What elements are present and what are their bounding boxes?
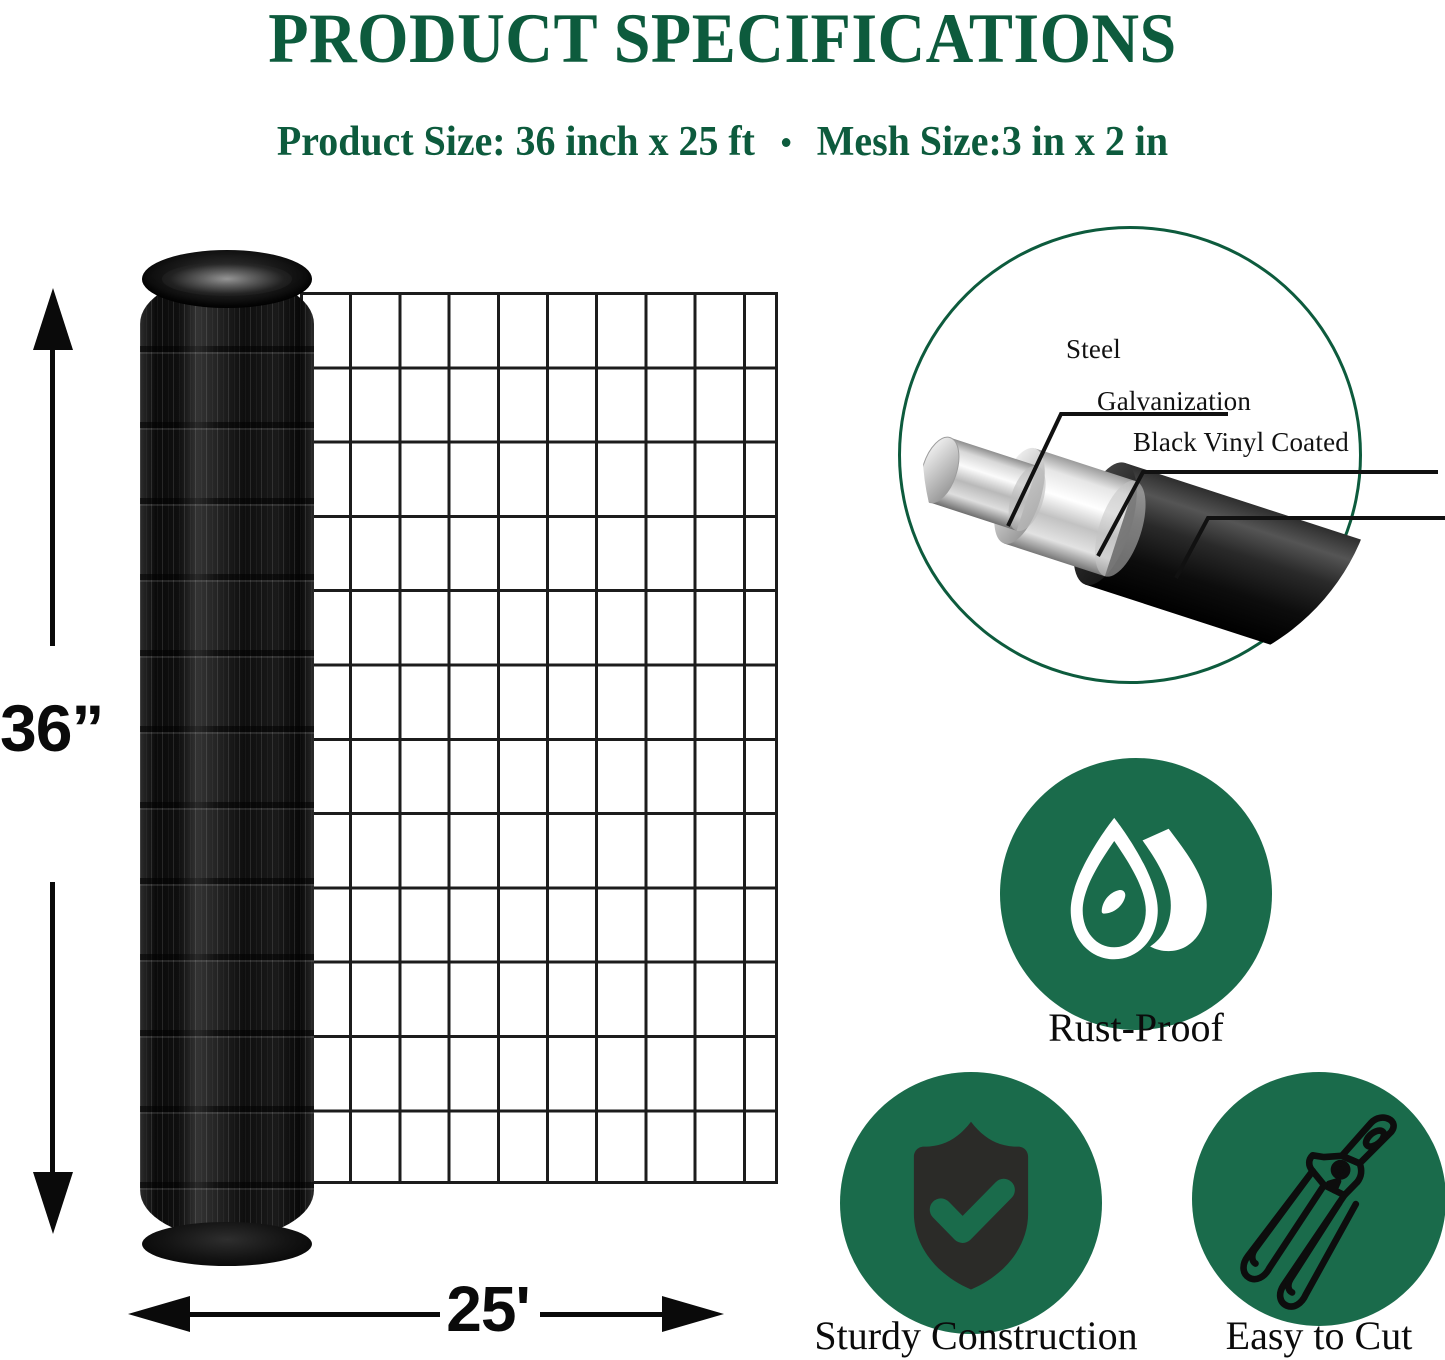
water-drop-icon [1000, 758, 1272, 1030]
wire-layer-label-steel: Steel [1066, 334, 1121, 365]
mesh-size-label: Mesh Size:3 in x 2 in [817, 118, 1168, 166]
mesh-right-edge [775, 292, 778, 1184]
roll-top-ellipse [142, 250, 312, 308]
arrow-shaft-right [540, 1312, 680, 1317]
feature-label-easy-to-cut: Easy to Cut [1188, 1312, 1445, 1359]
wire-layer-label-galvanization: Galvanization [1097, 386, 1251, 417]
wire-mesh-sheet [300, 292, 778, 1184]
width-dimension-label: 25' [428, 1272, 548, 1346]
roll-body [140, 276, 314, 1238]
feature-badge-easy-to-cut [1192, 1072, 1445, 1326]
arrow-shaft-bottom [50, 882, 55, 1174]
arrow-shaft-top [50, 346, 55, 646]
wire-layer-label-vinyl: Black Vinyl Coated [1133, 427, 1349, 458]
wire-cross-section-diagram [898, 226, 1445, 696]
arrow-head-right-icon [662, 1296, 724, 1332]
shield-check-icon [840, 1072, 1102, 1334]
page-title: PRODUCT SPECIFICATIONS [51, 2, 1395, 77]
feature-label-sturdy-construction: Sturdy Construction [786, 1312, 1166, 1359]
specs-subtitle-row: Product Size: 36 inch x 25 ft Mesh Size:… [36, 118, 1409, 166]
separator-dot-icon [782, 138, 791, 147]
roll-highlight [178, 276, 216, 1238]
arrow-head-up-icon [33, 288, 73, 350]
steel-layer [913, 432, 1053, 535]
mesh-bottom-edge [300, 1181, 778, 1184]
roll-horizontal-bands [140, 276, 314, 1238]
height-dimension-label: 36” [0, 690, 126, 766]
feature-badge-rust-proof [1000, 758, 1272, 1030]
width-dimension-arrow: 25' [128, 1288, 724, 1346]
feature-label-rust-proof: Rust-Proof [986, 1004, 1286, 1051]
arrow-head-down-icon [33, 1172, 73, 1234]
roll-top-opening [162, 262, 292, 296]
feature-badge-sturdy-construction [840, 1072, 1102, 1334]
wire-fence-roll [140, 250, 314, 1266]
pliers-icon [1192, 1072, 1445, 1326]
product-specifications-infographic: PRODUCT SPECIFICATIONS Product Size: 36 … [0, 0, 1445, 1360]
arrow-shaft-left [172, 1312, 440, 1317]
product-size-label: Product Size: 36 inch x 25 ft [277, 118, 755, 166]
roll-bottom-ellipse [142, 1222, 312, 1266]
